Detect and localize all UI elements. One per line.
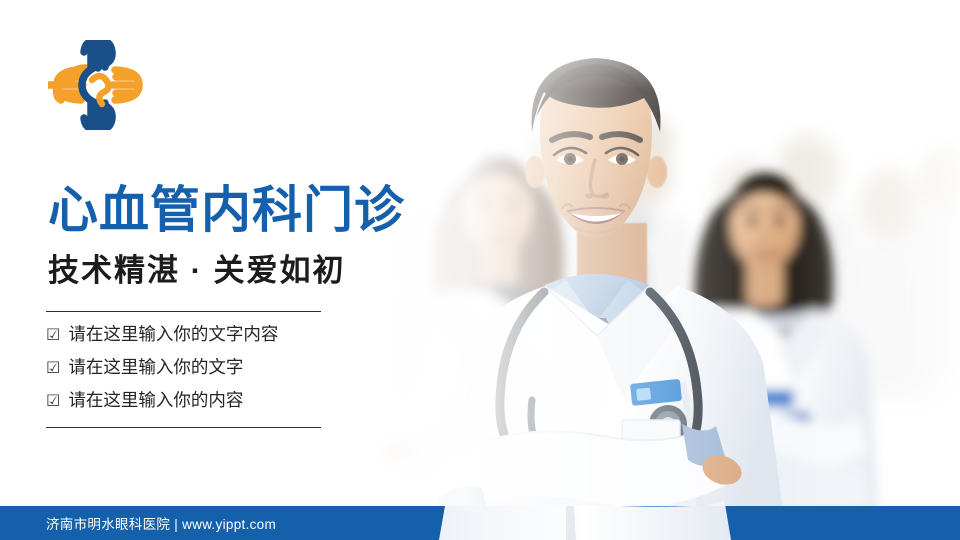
list-item-label: 请在这里输入你的文字 — [68, 359, 243, 377]
page-subtitle: 技术精湛 · 关爱如初 — [48, 252, 346, 289]
list-item: ☑ 请在这里输入你的文字 — [46, 359, 376, 377]
divider-bottom — [46, 427, 321, 428]
bullet-list: ☑ 请在这里输入你的文字内容 ☑ 请在这里输入你的文字 ☑ 请在这里输入你的内容 — [46, 326, 376, 410]
footer-bar: 济南市明水眼科医院 | www.yippt.com — [0, 506, 960, 540]
hospital-pinwheel-cross-logo — [48, 40, 148, 130]
page-title: 心血管内科门诊 — [48, 184, 405, 237]
list-item-label: 请在这里输入你的文字内容 — [68, 326, 278, 344]
checkbox-checked-icon: ☑ — [46, 361, 60, 377]
presentation-slide: 心血管内科门诊 技术精湛 · 关爱如初 ☑ 请在这里输入你的文字内容 ☑ 请在这… — [0, 0, 960, 540]
list-item: ☑ 请在这里输入你的内容 — [46, 392, 376, 410]
checkbox-checked-icon: ☑ — [46, 394, 60, 410]
medical-team-photo — [330, 0, 960, 540]
checkbox-checked-icon: ☑ — [46, 328, 60, 344]
list-item-label: 请在这里输入你的内容 — [68, 392, 243, 410]
divider-top — [46, 311, 321, 312]
list-item: ☑ 请在这里输入你的文字内容 — [46, 326, 376, 344]
footer-text: 济南市明水眼科医院 | www.yippt.com — [46, 506, 276, 540]
